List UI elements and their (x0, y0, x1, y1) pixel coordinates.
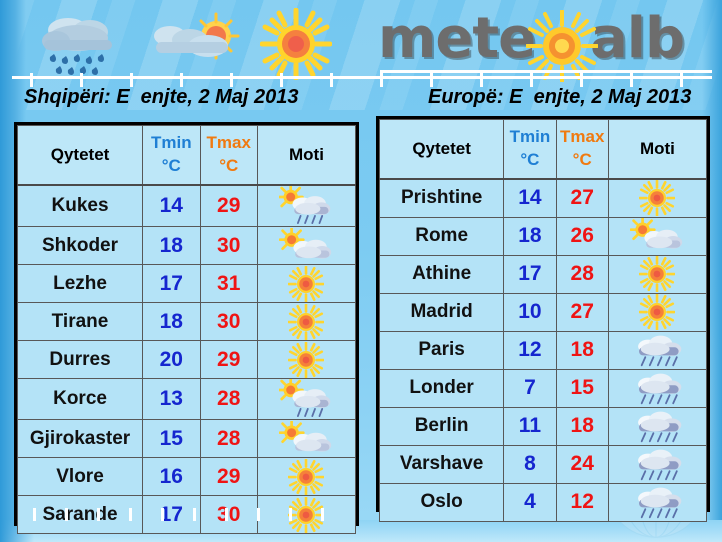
cell-tmax: 28 (200, 379, 257, 420)
cell-tmax: 28 (200, 420, 257, 458)
cell-weather (257, 185, 355, 227)
page-title-albania: Shqipëri: E enjte, 2 Maj 2013 (24, 86, 299, 109)
cell-city: Sarande (18, 496, 143, 534)
cell-city: Madrid (380, 293, 504, 331)
cell-tmax: 29 (200, 458, 257, 496)
sun-icon (258, 303, 355, 340)
cell-tmin: 12 (504, 331, 556, 369)
brand-logo: mete alb (378, 8, 698, 70)
cell-weather (257, 303, 355, 341)
sun-cloud-rain-icon (258, 379, 355, 419)
cell-city: Lezhe (18, 265, 143, 303)
rain-cloud-icon (609, 408, 706, 445)
cell-weather (608, 483, 706, 521)
sun-cloud-icon (258, 420, 355, 457)
table-row: Shkoder1830 (18, 227, 356, 265)
sun-icon (258, 341, 355, 378)
cell-tmin: 18 (504, 217, 556, 255)
cell-city: Rome (380, 217, 504, 255)
sun-icon (258, 458, 355, 495)
column-header-tmax: Tmax °C (556, 120, 608, 180)
cell-tmax: 31 (200, 265, 257, 303)
cell-weather (257, 496, 355, 534)
table-row: Londer715 (380, 369, 707, 407)
cell-tmin: 15 (143, 420, 200, 458)
cell-city: Gjirokaster (18, 420, 143, 458)
cell-weather (257, 265, 355, 303)
europe-forecast-panel: Qytetet Tmin °C Tmax °C Moti Prishtine14… (376, 116, 710, 512)
sun-icon (258, 496, 355, 533)
cell-tmax: 18 (556, 331, 608, 369)
cell-tmax: 26 (556, 217, 608, 255)
cell-tmin: 7 (504, 369, 556, 407)
albania-forecast-table: Qytetet Tmin °C Tmax °C Moti Kukes1429 (17, 125, 356, 534)
cell-weather (608, 369, 706, 407)
cell-tmax: 29 (200, 185, 257, 227)
sun-icon (609, 294, 706, 331)
sun-icon (258, 265, 355, 302)
cell-city: Athine (380, 255, 504, 293)
cell-tmax: 30 (200, 496, 257, 534)
cell-weather (257, 420, 355, 458)
cell-tmax: 28 (556, 255, 608, 293)
sun-icon (609, 180, 706, 217)
cell-weather (608, 407, 706, 445)
table-row: Sarande1730 (18, 496, 356, 534)
table-row: Oslo412 (380, 483, 707, 521)
cell-tmin: 16 (143, 458, 200, 496)
cell-tmax: 18 (556, 407, 608, 445)
sun-cloud-icon (258, 227, 355, 264)
cell-tmax: 27 (556, 179, 608, 217)
table-row: Lezhe1731 (18, 265, 356, 303)
table-row: Gjirokaster1528 (18, 420, 356, 458)
weather-forecast-page: mete alb (0, 0, 722, 542)
albania-table-body: Kukes1429 (18, 185, 356, 534)
cell-city: Varshave (380, 445, 504, 483)
cell-tmin: 18 (143, 303, 200, 341)
cell-weather (608, 293, 706, 331)
table-row: Vlore1629 (18, 458, 356, 496)
cell-city: Kukes (18, 185, 143, 227)
rain-cloud-icon (609, 446, 706, 483)
cell-weather (608, 217, 706, 255)
cell-weather (608, 445, 706, 483)
cell-tmax: 15 (556, 369, 608, 407)
cell-tmin: 10 (504, 293, 556, 331)
cell-weather (608, 331, 706, 369)
cell-city: Durres (18, 341, 143, 379)
cell-city: Oslo (380, 483, 504, 521)
rain-cloud-icon (609, 484, 706, 521)
table-row: Kukes1429 (18, 185, 356, 227)
cell-city: Prishtine (380, 179, 504, 217)
table-row: Tirane1830 (18, 303, 356, 341)
column-header-weather: Moti (257, 126, 355, 186)
cell-weather (257, 458, 355, 496)
cell-city: Korce (18, 379, 143, 420)
cell-weather (257, 341, 355, 379)
albania-forecast-panel: Qytetet Tmin °C Tmax °C Moti Kukes1429 (14, 122, 359, 526)
table-row: Paris1218 (380, 331, 707, 369)
table-row: Madrid1027 (380, 293, 707, 331)
table-row: Prishtine1427 (380, 179, 707, 217)
table-row: Berlin1118 (380, 407, 707, 445)
table-header-row: Qytetet Tmin °C Tmax °C Moti (380, 120, 707, 180)
cell-weather (608, 255, 706, 293)
column-header-city: Qytetet (18, 126, 143, 186)
table-row: Durres2029 (18, 341, 356, 379)
logo-text-part2: alb (590, 8, 684, 70)
cell-tmin: 18 (143, 227, 200, 265)
cell-tmin: 17 (504, 255, 556, 293)
column-header-tmin: Tmin °C (143, 126, 200, 186)
table-row: Korce1328 (18, 379, 356, 420)
logo-text-part1: mete (378, 8, 535, 70)
cell-tmax: 29 (200, 341, 257, 379)
cell-tmin: 13 (143, 379, 200, 420)
cell-weather (257, 379, 355, 420)
cell-city: Shkoder (18, 227, 143, 265)
europe-table-body: Prishtine1427 Rome1826 (380, 179, 707, 521)
cell-city: Paris (380, 331, 504, 369)
cell-tmin: 14 (504, 179, 556, 217)
cell-weather (608, 179, 706, 217)
cell-weather (257, 227, 355, 265)
sun-cloud-rain-icon (258, 186, 355, 226)
table-row: Athine1728 (380, 255, 707, 293)
cell-tmax: 30 (200, 227, 257, 265)
cell-tmin: 11 (504, 407, 556, 445)
column-header-weather: Moti (608, 120, 706, 180)
cell-city: Vlore (18, 458, 143, 496)
table-row: Varshave824 (380, 445, 707, 483)
rain-cloud-icon (609, 370, 706, 407)
table-header-row: Qytetet Tmin °C Tmax °C Moti (18, 126, 356, 186)
rain-cloud-icon (32, 10, 128, 76)
column-header-tmin: Tmin °C (504, 120, 556, 180)
cell-tmin: 8 (504, 445, 556, 483)
cell-city: Berlin (380, 407, 504, 445)
cell-city: Londer (380, 369, 504, 407)
page-title-europe: Europë: E enjte, 2 Maj 2013 (428, 86, 691, 109)
cell-tmin: 17 (143, 496, 200, 534)
cell-tmin: 4 (504, 483, 556, 521)
table-row: Rome1826 (380, 217, 707, 255)
header-banner: mete alb (0, 0, 722, 80)
rain-cloud-icon (609, 332, 706, 369)
cell-tmin: 20 (143, 341, 200, 379)
cell-tmax: 12 (556, 483, 608, 521)
sun-icon (609, 256, 706, 293)
sun-behind-cloud-icon (146, 12, 246, 72)
cell-tmax: 30 (200, 303, 257, 341)
europe-forecast-table: Qytetet Tmin °C Tmax °C Moti Prishtine14… (379, 119, 707, 522)
sun-cloud-icon (609, 218, 706, 255)
column-header-city: Qytetet (380, 120, 504, 180)
cell-tmin: 17 (143, 265, 200, 303)
cell-city: Tirane (18, 303, 143, 341)
cell-tmin: 14 (143, 185, 200, 227)
cell-tmax: 24 (556, 445, 608, 483)
column-header-tmax: Tmax °C (200, 126, 257, 186)
sun-icon (260, 8, 332, 80)
cell-tmax: 27 (556, 293, 608, 331)
